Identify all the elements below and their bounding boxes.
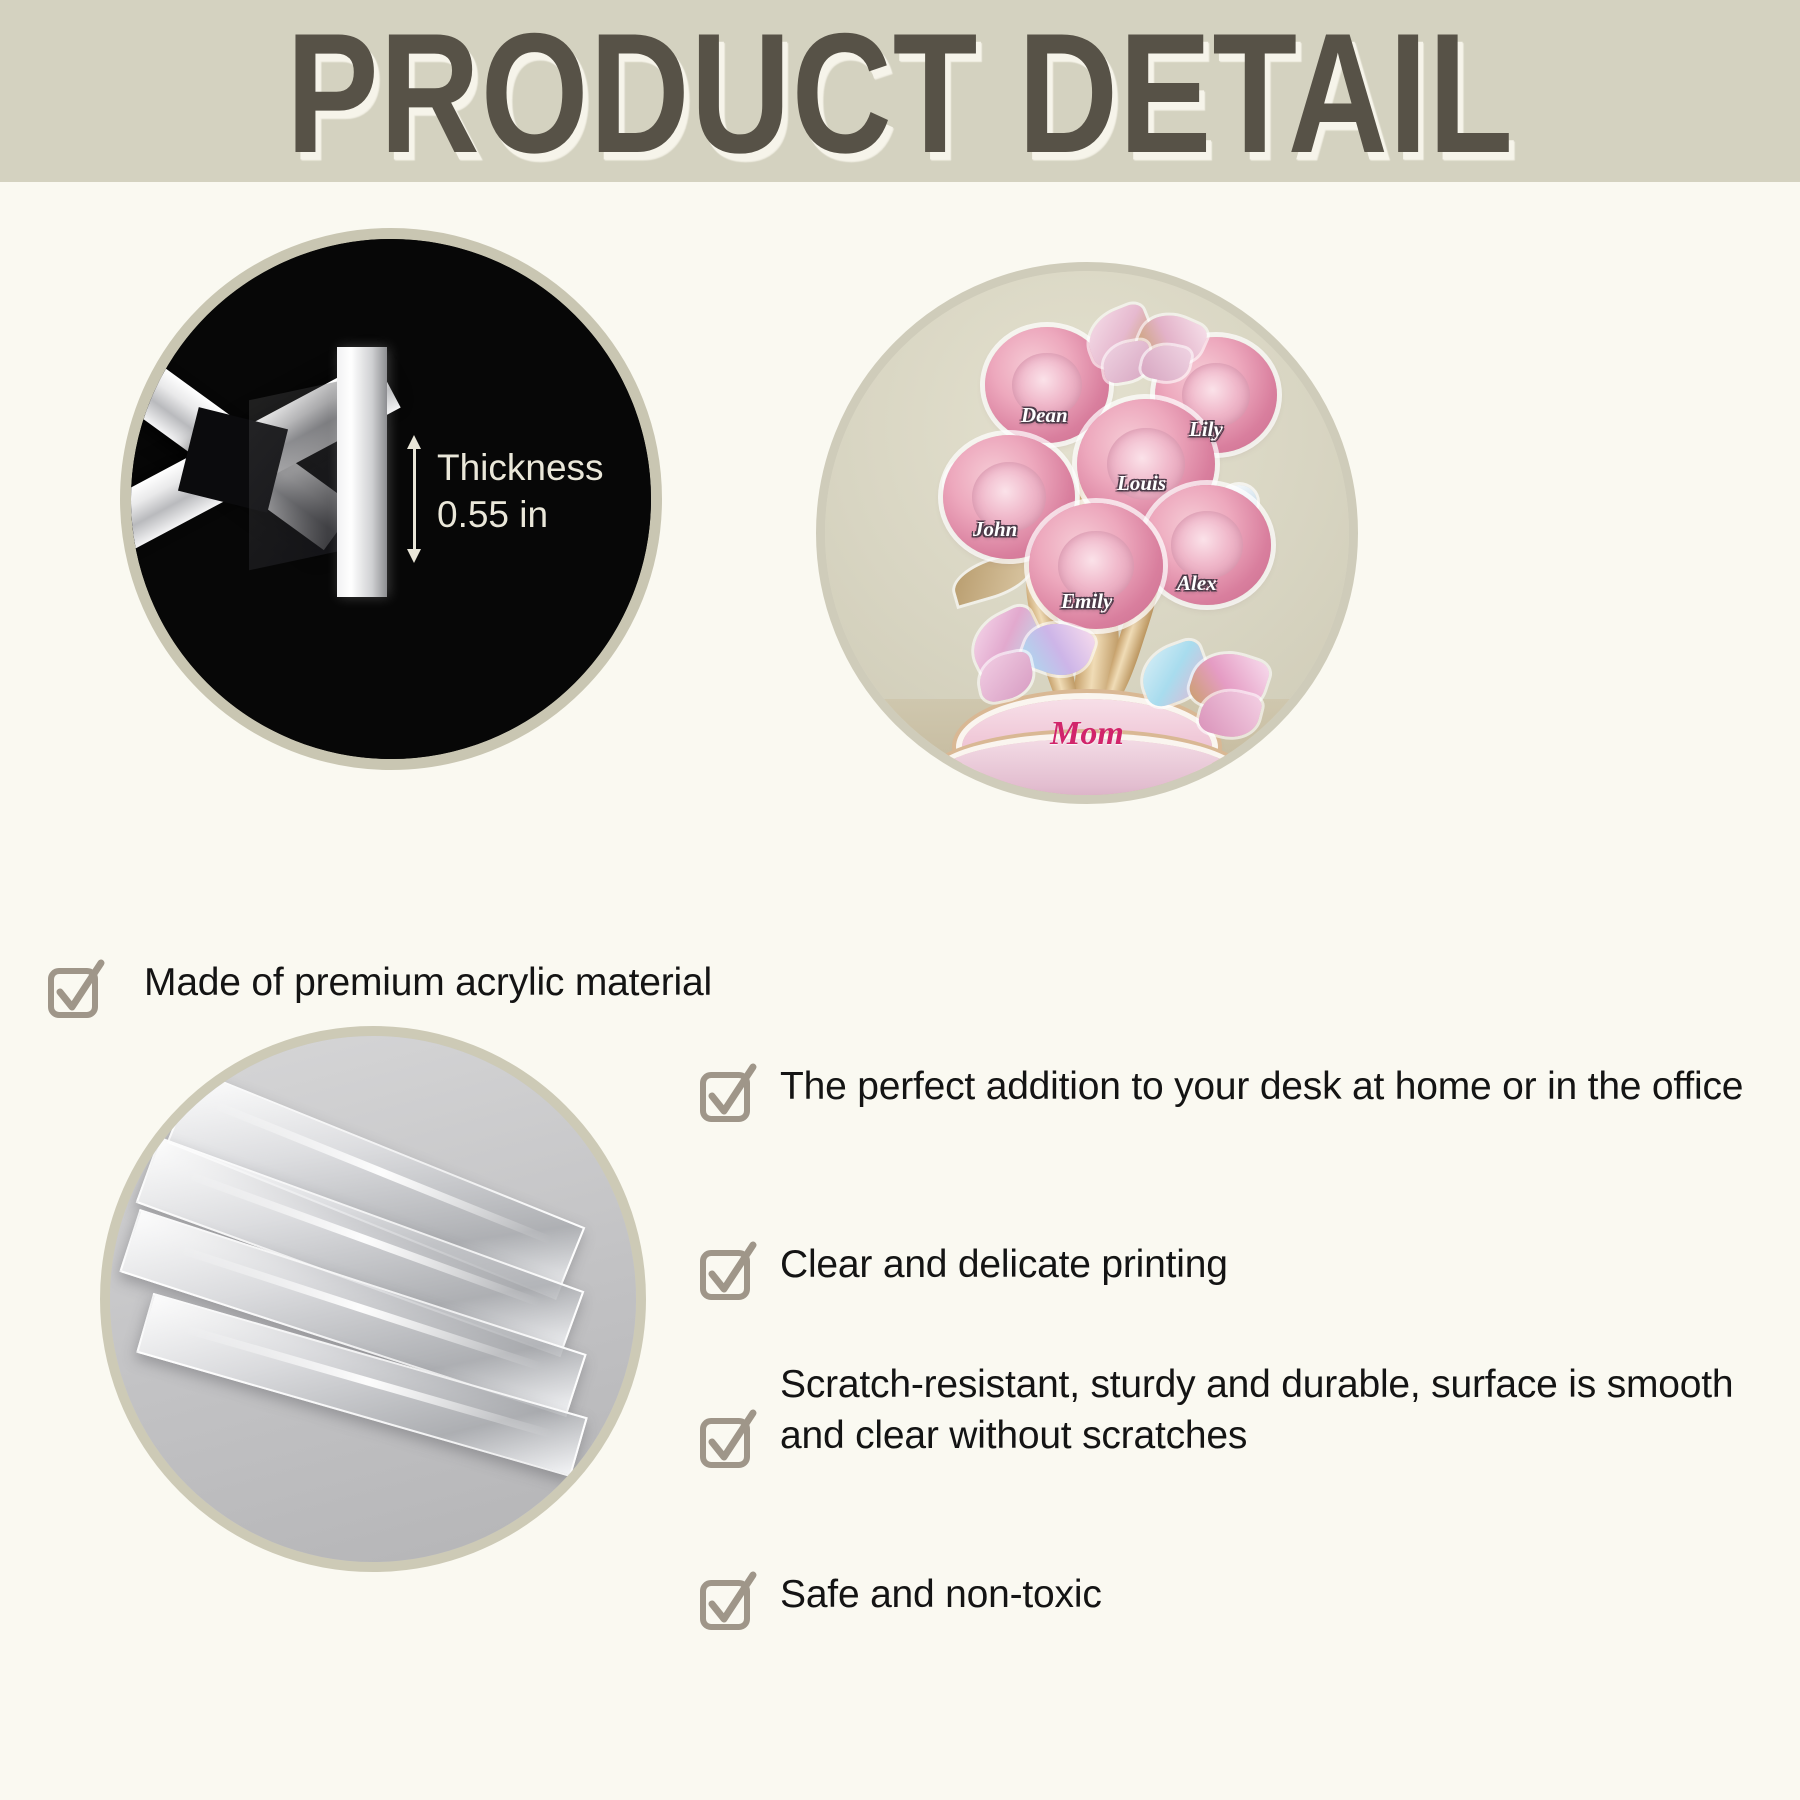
photo-backdrop: Thickness 0.55 in — [131, 239, 651, 759]
feature-text-safe: Safe and non-toxic — [780, 1570, 1102, 1621]
page-title: PRODUCT DETAIL — [286, 3, 1514, 179]
acrylic-edge-highlight — [337, 347, 387, 597]
product-detail-infographic: PRODUCT DETAIL Thickness 0.55 in — [0, 0, 1800, 1800]
thickness-label-line2: 0.55 in — [437, 492, 604, 539]
name-tag-lily: Lily — [1189, 417, 1223, 442]
name-tag-emily: Emily — [1061, 589, 1112, 614]
thickness-label: Thickness 0.55 in — [437, 445, 604, 538]
rose-ornament-photo: Dean Lily Louis John Alex Emily Mom — [816, 262, 1358, 804]
arrow-shaft — [413, 447, 416, 551]
checkbox-checked-icon — [700, 1574, 756, 1630]
checkbox-checked-icon — [48, 962, 104, 1018]
feature-text-desk: The perfect addition to your desk at hom… — [780, 1062, 1743, 1113]
rose-bouquet-ornament: Dean Lily Louis John Alex Emily Mom — [825, 271, 1349, 795]
acrylic-edge-photo: Thickness 0.55 in — [120, 228, 662, 770]
thickness-dimension-arrow-icon — [407, 435, 421, 563]
acrylic-sheets-photo — [100, 1026, 646, 1572]
feature-item-scratch: Scratch-resistant, sturdy and durable, s… — [700, 1360, 1760, 1468]
checkbox-checked-icon — [700, 1412, 756, 1468]
feature-text-acrylic: Made of premium acrylic material — [128, 958, 728, 1009]
feature-item-safe: Safe and non-toxic — [700, 1570, 1760, 1630]
feature-item-desk: The perfect addition to your desk at hom… — [700, 1062, 1760, 1122]
name-tag-john: John — [973, 517, 1017, 542]
checkbox-checked-icon — [700, 1066, 756, 1122]
feature-text-printing: Clear and delicate printing — [780, 1240, 1228, 1291]
feature-item-acrylic: Made of premium acrylic material — [48, 958, 748, 1018]
arrow-head-down-icon — [407, 549, 421, 563]
feature-text-scratch: Scratch-resistant, sturdy and durable, s… — [780, 1360, 1760, 1461]
name-tag-louis: Louis — [1117, 471, 1166, 496]
name-tag-dean: Dean — [1021, 403, 1068, 428]
checkbox-checked-icon — [700, 1244, 756, 1300]
feature-item-printing: Clear and delicate printing — [700, 1240, 1760, 1300]
gold-leaf-left — [950, 551, 1036, 606]
header-banner: PRODUCT DETAIL — [0, 0, 1800, 182]
base-name-text: Mom — [1050, 715, 1124, 753]
name-tag-alex: Alex — [1177, 571, 1217, 596]
thickness-label-line1: Thickness — [437, 445, 604, 492]
